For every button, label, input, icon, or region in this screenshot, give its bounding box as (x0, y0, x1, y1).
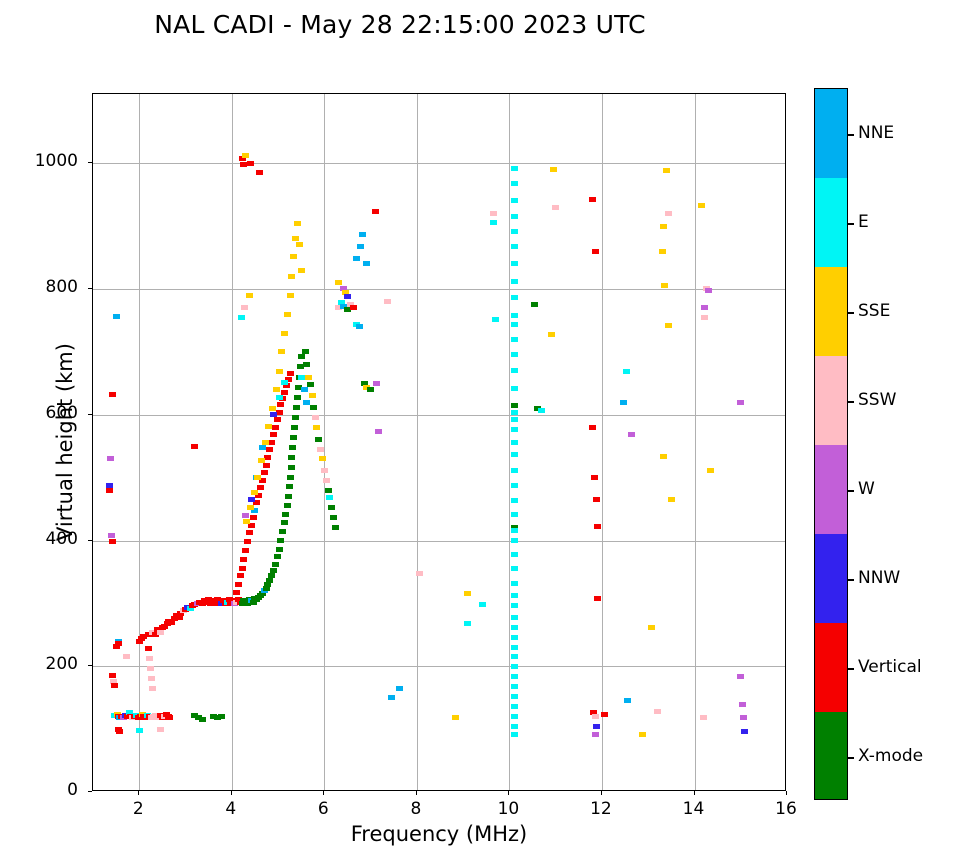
data-point (741, 729, 748, 734)
data-point (601, 712, 608, 717)
colorbar-tick (848, 668, 854, 669)
data-point (109, 392, 116, 397)
data-point (157, 630, 164, 635)
data-point (511, 386, 518, 391)
data-point (623, 369, 630, 374)
data-point (148, 676, 155, 681)
data-point (191, 444, 198, 449)
data-point (303, 362, 310, 367)
data-point (247, 161, 254, 166)
data-point (396, 686, 403, 691)
plot-area (93, 94, 785, 790)
data-point (737, 674, 744, 679)
data-point (147, 666, 154, 671)
data-point (511, 352, 518, 357)
data-point (335, 280, 342, 285)
data-point (353, 256, 360, 261)
data-point (511, 538, 518, 543)
colorbar-tick-label-nnw: NNW (858, 568, 900, 588)
data-point (285, 494, 292, 499)
data-point (663, 168, 670, 173)
data-point (321, 468, 328, 473)
data-point (740, 715, 747, 720)
data-point (293, 405, 300, 410)
colorbar-segment-e (815, 178, 847, 268)
data-point (242, 548, 249, 553)
y-axis-tick (88, 414, 92, 415)
data-point (511, 452, 518, 457)
data-point (325, 488, 332, 493)
x-axis-tick-label: 2 (108, 799, 168, 819)
data-point (511, 603, 518, 608)
data-point (511, 295, 518, 300)
data-point (359, 232, 366, 237)
data-point (113, 314, 120, 319)
data-point (259, 445, 266, 450)
data-point (281, 520, 288, 525)
data-point (263, 463, 270, 468)
data-point (111, 683, 118, 688)
data-point (511, 166, 518, 171)
data-point (298, 354, 305, 359)
data-point (511, 635, 518, 640)
x-axis-tick-label: 10 (478, 799, 538, 819)
data-point (281, 380, 288, 385)
data-point (199, 717, 206, 722)
x-axis-tick (231, 791, 232, 795)
data-point (620, 400, 627, 405)
data-point (356, 324, 363, 329)
colorbar-tick (848, 579, 854, 580)
data-point (256, 170, 263, 175)
data-point (372, 209, 379, 214)
data-point (511, 440, 518, 445)
data-point (251, 490, 258, 495)
data-point (276, 395, 283, 400)
data-point (701, 305, 708, 310)
data-point (739, 702, 746, 707)
data-point (319, 456, 326, 461)
data-point (511, 261, 518, 266)
y-axis-tick (88, 288, 92, 289)
data-point (241, 305, 248, 310)
data-point (287, 293, 294, 298)
data-point (310, 405, 317, 410)
x-axis-label: Frequency (MHz) (92, 822, 786, 846)
data-point (511, 625, 518, 630)
colorbar-tick-label-w: W (858, 479, 875, 499)
data-point (511, 684, 518, 689)
chart-title: NAL CADI - May 28 22:15:00 2023 UTC (0, 10, 800, 39)
data-point (511, 410, 518, 415)
data-point (511, 552, 518, 557)
data-point (363, 261, 370, 266)
data-point (257, 485, 264, 490)
colorbar (814, 88, 848, 800)
data-point (294, 395, 301, 400)
x-axis-tick-label: 6 (293, 799, 353, 819)
data-point (511, 214, 518, 219)
data-point (705, 288, 712, 293)
data-point (277, 402, 284, 407)
data-point (511, 468, 518, 473)
data-point (326, 495, 333, 500)
x-axis-tick (138, 791, 139, 795)
gridline-vertical (139, 94, 140, 790)
colorbar-tick-label-e: E (858, 212, 869, 232)
gridline-horizontal (93, 289, 785, 290)
x-axis-tick (508, 791, 509, 795)
data-point (246, 293, 253, 298)
colorbar-segment-sse (815, 267, 847, 357)
data-point (277, 538, 284, 543)
data-point (254, 475, 261, 480)
data-point (628, 432, 635, 437)
data-point (511, 279, 518, 284)
data-point (589, 425, 596, 430)
data-point (511, 593, 518, 598)
y-axis-tick (88, 791, 92, 792)
data-point (531, 302, 538, 307)
data-point (511, 732, 518, 737)
data-point (698, 203, 705, 208)
data-point (238, 315, 245, 320)
data-point (292, 236, 299, 241)
data-point (272, 562, 279, 567)
data-point (274, 417, 281, 422)
data-point (639, 732, 646, 737)
data-point (266, 578, 273, 583)
data-point (113, 644, 120, 649)
data-point (511, 427, 518, 432)
data-point (357, 244, 364, 249)
data-point (279, 529, 286, 534)
gridline-vertical (602, 94, 603, 790)
data-point (344, 294, 351, 299)
data-point (464, 591, 471, 596)
data-point (268, 573, 275, 578)
data-point (452, 715, 459, 720)
data-point (593, 724, 600, 729)
data-point (288, 274, 295, 279)
data-point (511, 322, 518, 327)
colorbar-tick (848, 401, 854, 402)
data-point (309, 393, 316, 398)
x-axis-tick (786, 791, 787, 795)
data-point (270, 412, 277, 417)
data-point (511, 694, 518, 699)
colorbar-tick (848, 757, 854, 758)
data-point (511, 528, 518, 533)
data-point (270, 568, 277, 573)
data-point (668, 497, 675, 502)
data-point (298, 268, 305, 273)
data-point (648, 625, 655, 630)
colorbar-tick (848, 134, 854, 135)
data-point (592, 249, 599, 254)
x-axis-tick-label: 8 (386, 799, 446, 819)
data-point (661, 283, 668, 288)
data-point (272, 425, 279, 430)
data-point (278, 349, 285, 354)
gridline-horizontal (93, 415, 785, 416)
colorbar-tick-label-vertical: Vertical (858, 657, 922, 677)
data-point (317, 447, 324, 452)
colorbar-segment-nne (815, 89, 847, 179)
data-point (274, 554, 281, 559)
colorbar-segment-x-mode (815, 712, 847, 800)
gridline-horizontal (93, 163, 785, 164)
data-point (302, 349, 309, 354)
data-point (298, 375, 305, 380)
data-point (268, 440, 275, 445)
data-point (416, 571, 423, 576)
plot-axes (92, 93, 786, 791)
data-point (701, 315, 708, 320)
data-point (511, 724, 518, 729)
x-axis-tick (601, 791, 602, 795)
data-point (511, 512, 518, 517)
data-point (707, 468, 714, 473)
data-point (592, 714, 599, 719)
data-point (592, 732, 599, 737)
x-axis-tick (323, 791, 324, 795)
x-axis-tick-label: 12 (571, 799, 631, 819)
data-point (594, 524, 601, 529)
data-point (242, 513, 249, 518)
data-point (290, 435, 297, 440)
data-point (262, 440, 269, 445)
data-point (492, 317, 499, 322)
data-point (548, 332, 555, 337)
data-point (550, 167, 557, 172)
colorbar-tick-label-nne: NNE (858, 123, 894, 143)
data-point (511, 581, 518, 586)
data-point (328, 505, 335, 510)
data-point (270, 432, 277, 437)
data-point (264, 455, 271, 460)
data-point (307, 382, 314, 387)
colorbar-segment-vertical (815, 623, 847, 713)
colorbar-tick (848, 490, 854, 491)
data-point (332, 525, 339, 530)
data-point (479, 602, 486, 607)
data-point (242, 153, 249, 158)
data-point (109, 539, 116, 544)
data-point (659, 249, 666, 254)
data-point (665, 211, 672, 216)
data-point (624, 698, 631, 703)
data-point (375, 429, 382, 434)
data-point (490, 220, 497, 225)
data-point (305, 375, 312, 380)
data-point (157, 727, 164, 732)
colorbar-tick (848, 223, 854, 224)
data-point (737, 400, 744, 405)
data-point (106, 488, 113, 493)
x-axis-tick-label: 14 (664, 799, 724, 819)
data-point (323, 478, 330, 483)
data-point (281, 331, 288, 336)
data-point (261, 470, 268, 475)
data-point (511, 704, 518, 709)
data-point (511, 664, 518, 669)
data-point (123, 654, 130, 659)
data-point (233, 590, 240, 595)
data-point (237, 573, 244, 578)
data-point (384, 299, 391, 304)
data-point (265, 424, 272, 429)
data-point (288, 455, 295, 460)
colorbar-segment-w (815, 445, 847, 535)
data-point (294, 221, 301, 226)
data-point (287, 371, 294, 376)
data-point (350, 305, 357, 310)
data-point (511, 181, 518, 186)
data-point (250, 515, 257, 520)
data-point (287, 475, 294, 480)
data-point (511, 566, 518, 571)
y-axis-tick (88, 540, 92, 541)
y-axis-tick (88, 665, 92, 666)
data-point (108, 533, 115, 538)
data-point (246, 530, 253, 535)
colorbar-tick-label-x-mode: X-mode (858, 746, 923, 766)
data-point (149, 686, 156, 691)
data-point (166, 715, 173, 720)
data-point (665, 323, 672, 328)
data-point (288, 465, 295, 470)
data-point (116, 729, 123, 734)
data-point (276, 547, 283, 552)
data-point (589, 197, 596, 202)
colorbar-tick-label-sse: SSE (858, 301, 890, 321)
data-point (276, 369, 283, 374)
data-point (258, 458, 265, 463)
data-point (243, 519, 250, 524)
data-point (290, 254, 297, 259)
x-axis-tick-label: 16 (756, 799, 816, 819)
gridline-horizontal (93, 666, 785, 667)
data-point (511, 654, 518, 659)
gridline-vertical (324, 94, 325, 790)
x-axis-tick (416, 791, 417, 795)
gridline-vertical (695, 94, 696, 790)
colorbar-segment-nnw (815, 534, 847, 624)
data-point (511, 483, 518, 488)
data-point (367, 387, 374, 392)
data-point (511, 368, 518, 373)
data-point (591, 475, 598, 480)
data-point (240, 557, 247, 562)
data-point (313, 425, 320, 430)
data-point (511, 674, 518, 679)
data-point (239, 566, 246, 571)
data-point (660, 224, 667, 229)
data-point (291, 425, 298, 430)
data-point (538, 408, 545, 413)
data-point (284, 503, 291, 508)
data-point (301, 387, 308, 392)
data-point (511, 198, 518, 203)
data-point (511, 244, 518, 249)
gridline-vertical (417, 94, 418, 790)
colorbar-segment-ssw (815, 356, 847, 446)
data-point (218, 714, 225, 719)
data-point (511, 645, 518, 650)
data-point (146, 656, 153, 661)
y-axis-tick (88, 162, 92, 163)
data-point (136, 728, 143, 733)
data-point (286, 484, 293, 489)
data-point (145, 646, 152, 651)
data-point (464, 621, 471, 626)
data-point (109, 673, 116, 678)
data-point (373, 381, 380, 386)
x-axis-tick (694, 791, 695, 795)
data-point (511, 714, 518, 719)
x-axis-tick-label: 4 (201, 799, 261, 819)
data-point (594, 596, 601, 601)
data-point (315, 437, 322, 442)
data-point (284, 312, 291, 317)
data-point (388, 695, 395, 700)
data-point (593, 497, 600, 502)
y-axis-label: Virtual height (km) (53, 93, 77, 791)
data-point (247, 505, 254, 510)
data-point (292, 415, 299, 420)
data-point (511, 498, 518, 503)
colorbar-tick-label-ssw: SSW (858, 390, 896, 410)
data-point (248, 497, 255, 502)
colorbar-tick (848, 312, 854, 313)
data-point (700, 715, 707, 720)
data-point (511, 615, 518, 620)
data-point (511, 403, 518, 408)
data-point (266, 447, 273, 452)
data-point (269, 406, 276, 411)
data-point (107, 456, 114, 461)
data-point (654, 709, 661, 714)
data-point (296, 242, 303, 247)
data-point (244, 539, 251, 544)
data-point (552, 205, 559, 210)
data-point (282, 512, 289, 517)
data-point (330, 515, 337, 520)
data-point (511, 417, 518, 422)
data-point (511, 313, 518, 318)
data-point (490, 211, 497, 216)
data-point (312, 415, 319, 420)
data-point (273, 387, 280, 392)
gridline-horizontal (93, 541, 785, 542)
gridline-vertical (232, 94, 233, 790)
data-point (303, 400, 310, 405)
data-point (511, 337, 518, 342)
data-point (289, 445, 296, 450)
data-point (235, 582, 242, 587)
data-point (511, 229, 518, 234)
ionogram-figure: NAL CADI - May 28 22:15:00 2023 UTC 2468… (0, 0, 958, 857)
data-point (660, 454, 667, 459)
